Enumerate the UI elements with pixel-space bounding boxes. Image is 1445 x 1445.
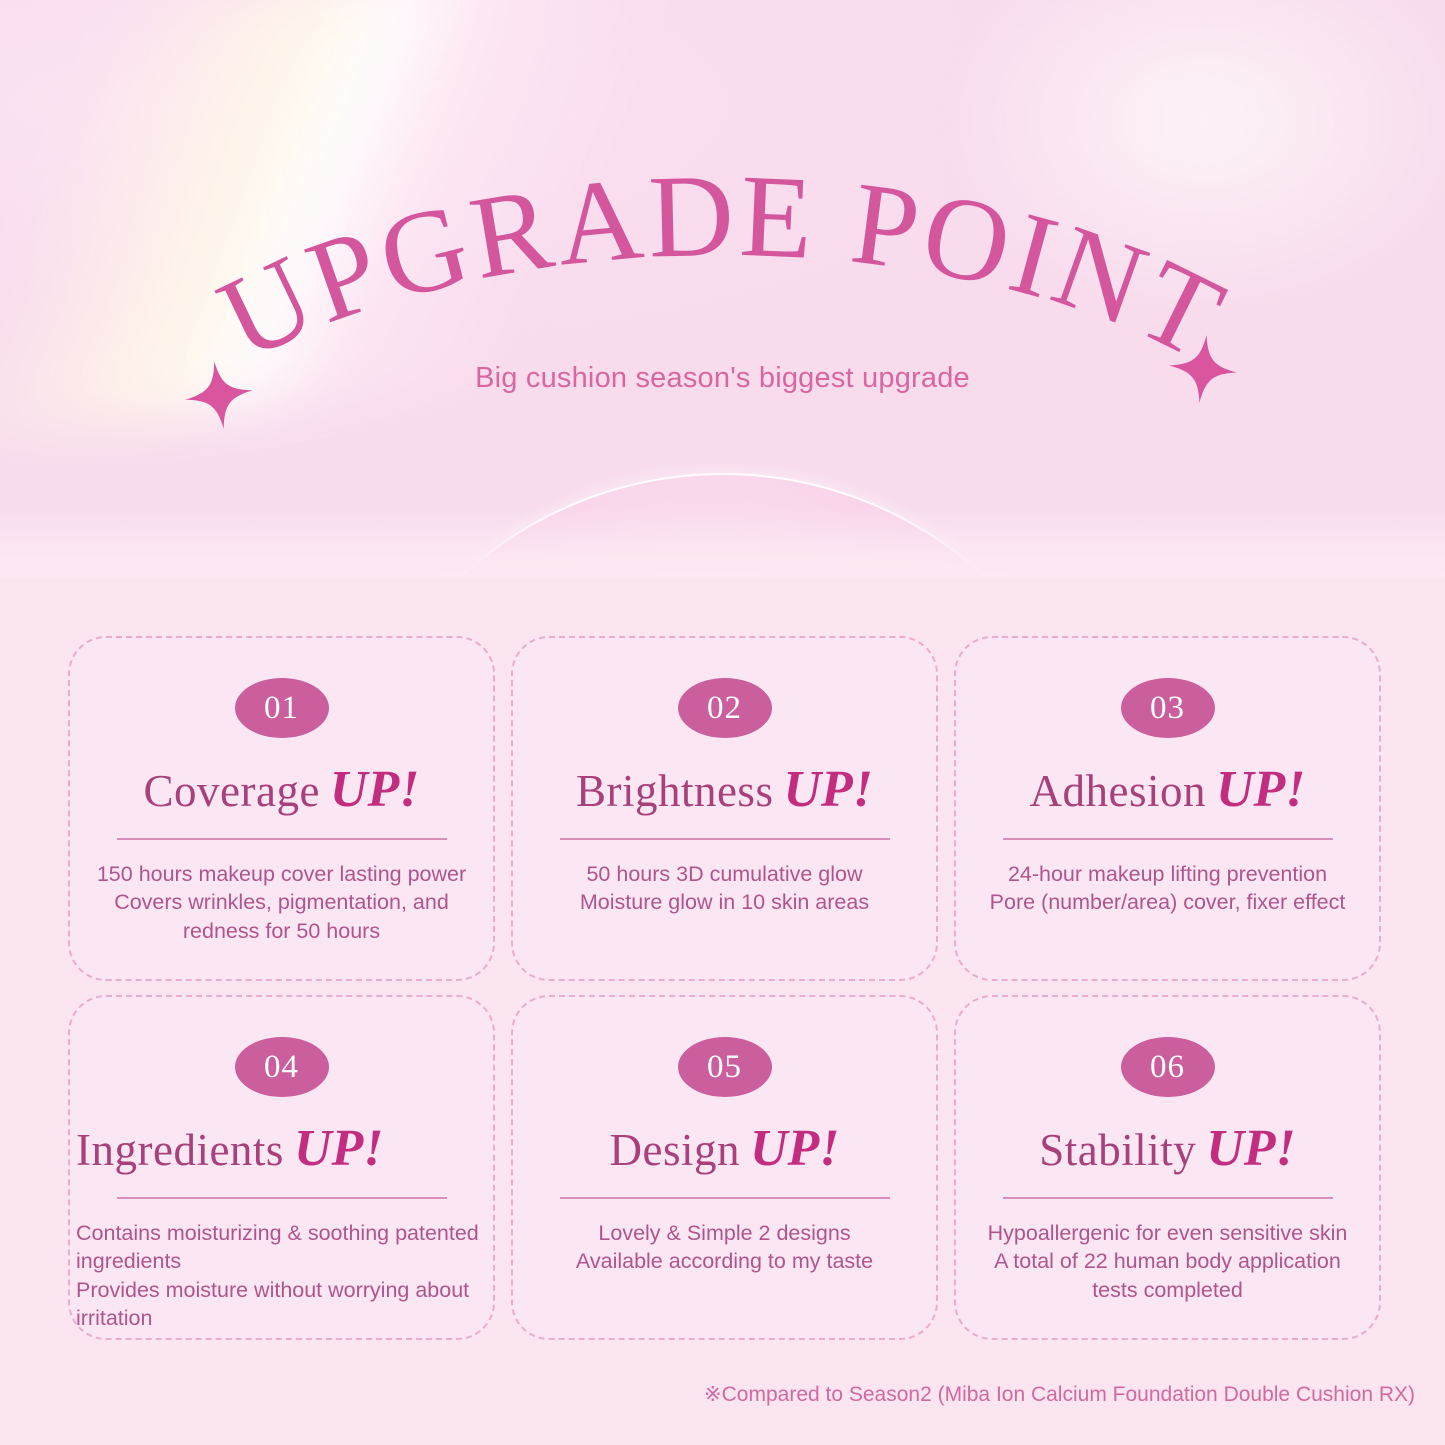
- card-description-line: irritation: [76, 1304, 491, 1332]
- upgrade-points-section: 01 CoverageUP! 150 hours makeup cover la…: [0, 578, 1445, 1445]
- card-up-label: UP!: [294, 1120, 384, 1177]
- card-heading: CoverageUP!: [70, 760, 493, 819]
- card-description: Lovely & Simple 2 designs Available acco…: [513, 1219, 936, 1276]
- card-description: 50 hours 3D cumulative glow Moisture glo…: [513, 860, 936, 917]
- card-divider: [560, 838, 890, 840]
- card-heading: StabilityUP!: [956, 1119, 1379, 1178]
- footnote: ※Compared to Season2 (Miba Ion Calcium F…: [0, 1382, 1445, 1407]
- card-title: Coverage: [144, 766, 320, 816]
- card-title: Ingredients: [76, 1125, 284, 1175]
- card-up-label: UP!: [1216, 761, 1306, 818]
- upgrade-cards-grid: 01 CoverageUP! 150 hours makeup cover la…: [68, 636, 1381, 1340]
- card-divider: [1003, 838, 1333, 840]
- card-heading: IngredientsUP!: [70, 1119, 499, 1178]
- card-title: Stability: [1039, 1125, 1196, 1175]
- card-description-line: Covers wrinkles, pigmentation, and: [72, 888, 491, 916]
- card-description-line: Available according to my taste: [515, 1247, 934, 1275]
- card-number-badge: 04: [235, 1037, 329, 1097]
- upgrade-card: 06 StabilityUP! Hypoallergenic for even …: [954, 995, 1381, 1340]
- card-description-line: 150 hours makeup cover lasting power: [72, 860, 491, 888]
- card-divider: [117, 838, 447, 840]
- upgrade-point-page: UPGRADE POINT Big cushion season's bigge…: [0, 0, 1445, 1445]
- card-number-badge: 02: [678, 678, 772, 738]
- card-number: 05: [707, 1051, 742, 1084]
- card-divider: [1003, 1197, 1333, 1199]
- card-up-label: UP!: [330, 761, 420, 818]
- card-description-line: tests completed: [958, 1276, 1377, 1304]
- card-divider: [117, 1197, 447, 1199]
- upgrade-card: 05 DesignUP! Lovely & Simple 2 designs A…: [511, 995, 938, 1340]
- card-description-line: Pore (number/area) cover, fixer effect: [958, 888, 1377, 916]
- card-number-badge: 06: [1121, 1037, 1215, 1097]
- card-number: 01: [264, 692, 299, 725]
- card-divider: [560, 1197, 890, 1199]
- card-description: 150 hours makeup cover lasting power Cov…: [70, 860, 493, 945]
- card-description-line: A total of 22 human body application: [958, 1247, 1377, 1275]
- card-heading: BrightnessUP!: [513, 760, 936, 819]
- card-description: 24-hour makeup lifting prevention Pore (…: [956, 860, 1379, 917]
- card-description-line: Lovely & Simple 2 designs: [515, 1219, 934, 1247]
- upgrade-card: 03 AdhesionUP! 24-hour makeup lifting pr…: [954, 636, 1381, 981]
- card-heading: DesignUP!: [513, 1119, 936, 1178]
- upgrade-card: 01 CoverageUP! 150 hours makeup cover la…: [68, 636, 495, 981]
- hero-bottom-fade: [0, 508, 1445, 578]
- card-number-badge: 01: [235, 678, 329, 738]
- card-title: Design: [609, 1125, 740, 1175]
- card-number: 04: [264, 1051, 299, 1084]
- card-number-badge: 03: [1121, 678, 1215, 738]
- card-description-line: 24-hour makeup lifting prevention: [958, 860, 1377, 888]
- card-description-line: Contains moisturizing & soothing patente…: [76, 1219, 491, 1247]
- upgrade-card: 02 BrightnessUP! 50 hours 3D cumulative …: [511, 636, 938, 981]
- card-title: Adhesion: [1029, 766, 1206, 816]
- card-description-line: redness for 50 hours: [72, 917, 491, 945]
- card-description-line: 50 hours 3D cumulative glow: [515, 860, 934, 888]
- card-up-label: UP!: [783, 761, 873, 818]
- card-heading: AdhesionUP!: [956, 760, 1379, 819]
- card-title: Brightness: [576, 766, 774, 816]
- card-description-line: ingredients: [76, 1247, 491, 1275]
- card-number-badge: 05: [678, 1037, 772, 1097]
- dome-circle-decoration: [336, 473, 1110, 578]
- hero-banner: UPGRADE POINT Big cushion season's bigge…: [0, 0, 1445, 578]
- card-number: 06: [1150, 1051, 1185, 1084]
- card-description: Contains moisturizing & soothing patente…: [70, 1219, 493, 1333]
- card-description: Hypoallergenic for even sensitive skin A…: [956, 1219, 1379, 1304]
- card-up-label: UP!: [1206, 1120, 1296, 1177]
- card-number: 02: [707, 692, 742, 725]
- hero-subtitle: Big cushion season's biggest upgrade: [0, 362, 1445, 395]
- card-number: 03: [1150, 692, 1185, 725]
- upgrade-card: 04 IngredientsUP! Contains moisturizing …: [68, 995, 495, 1340]
- card-up-label: UP!: [750, 1120, 840, 1177]
- card-description-line: Moisture glow in 10 skin areas: [515, 888, 934, 916]
- card-description-line: Hypoallergenic for even sensitive skin: [958, 1219, 1377, 1247]
- page-title: UPGRADE POINT: [200, 150, 1245, 386]
- card-description-line: Provides moisture without worrying about: [76, 1276, 491, 1304]
